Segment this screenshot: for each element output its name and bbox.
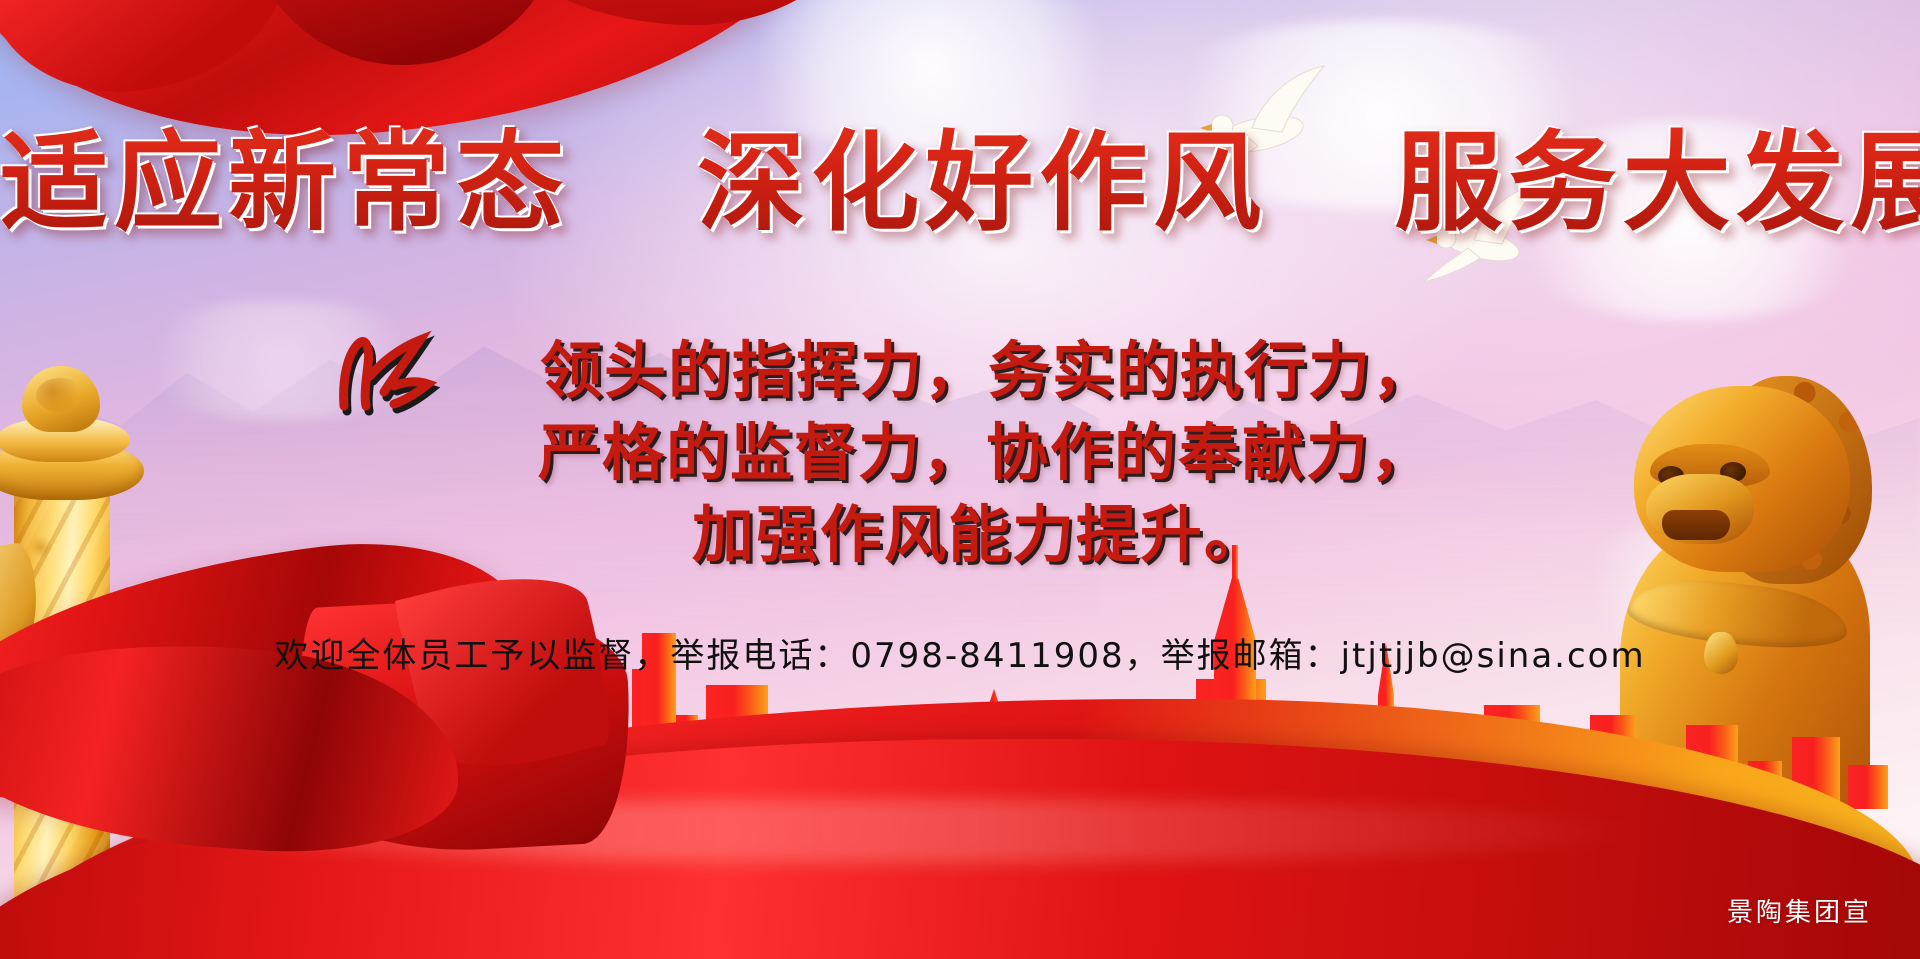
signature-label: 景陶集团宣 <box>1727 892 1872 929</box>
page-title: 适应新常态 深化好作风 服务大发展 <box>0 96 1920 252</box>
slogan-block: 领头的指挥力，务实的执行力， 严格的监督力，协作的奉献力， 加强作风能力提升。 <box>0 330 1920 576</box>
headline-part-2: 深化好作风 <box>697 96 1267 252</box>
headline-part-3: 服务大发展 <box>1394 96 1920 252</box>
slogan-line-1: 领头的指挥力，务实的执行力， <box>0 330 1920 412</box>
propaganda-banner: 适应新常态 深化好作风 服务大发展 领头的指挥力，务实的执行力， 严格的监督力，… <box>0 0 1920 959</box>
slogan-line-2: 严格的监督力，协作的奉献力， <box>0 412 1920 494</box>
contact-line: 欢迎全体员工予以监督，举报电话：0798-8411908，举报邮箱：jtjtjj… <box>0 628 1920 677</box>
slogan-line-3: 加强作风能力提升。 <box>0 494 1920 576</box>
headline-part-1: 适应新常态 <box>0 96 570 252</box>
